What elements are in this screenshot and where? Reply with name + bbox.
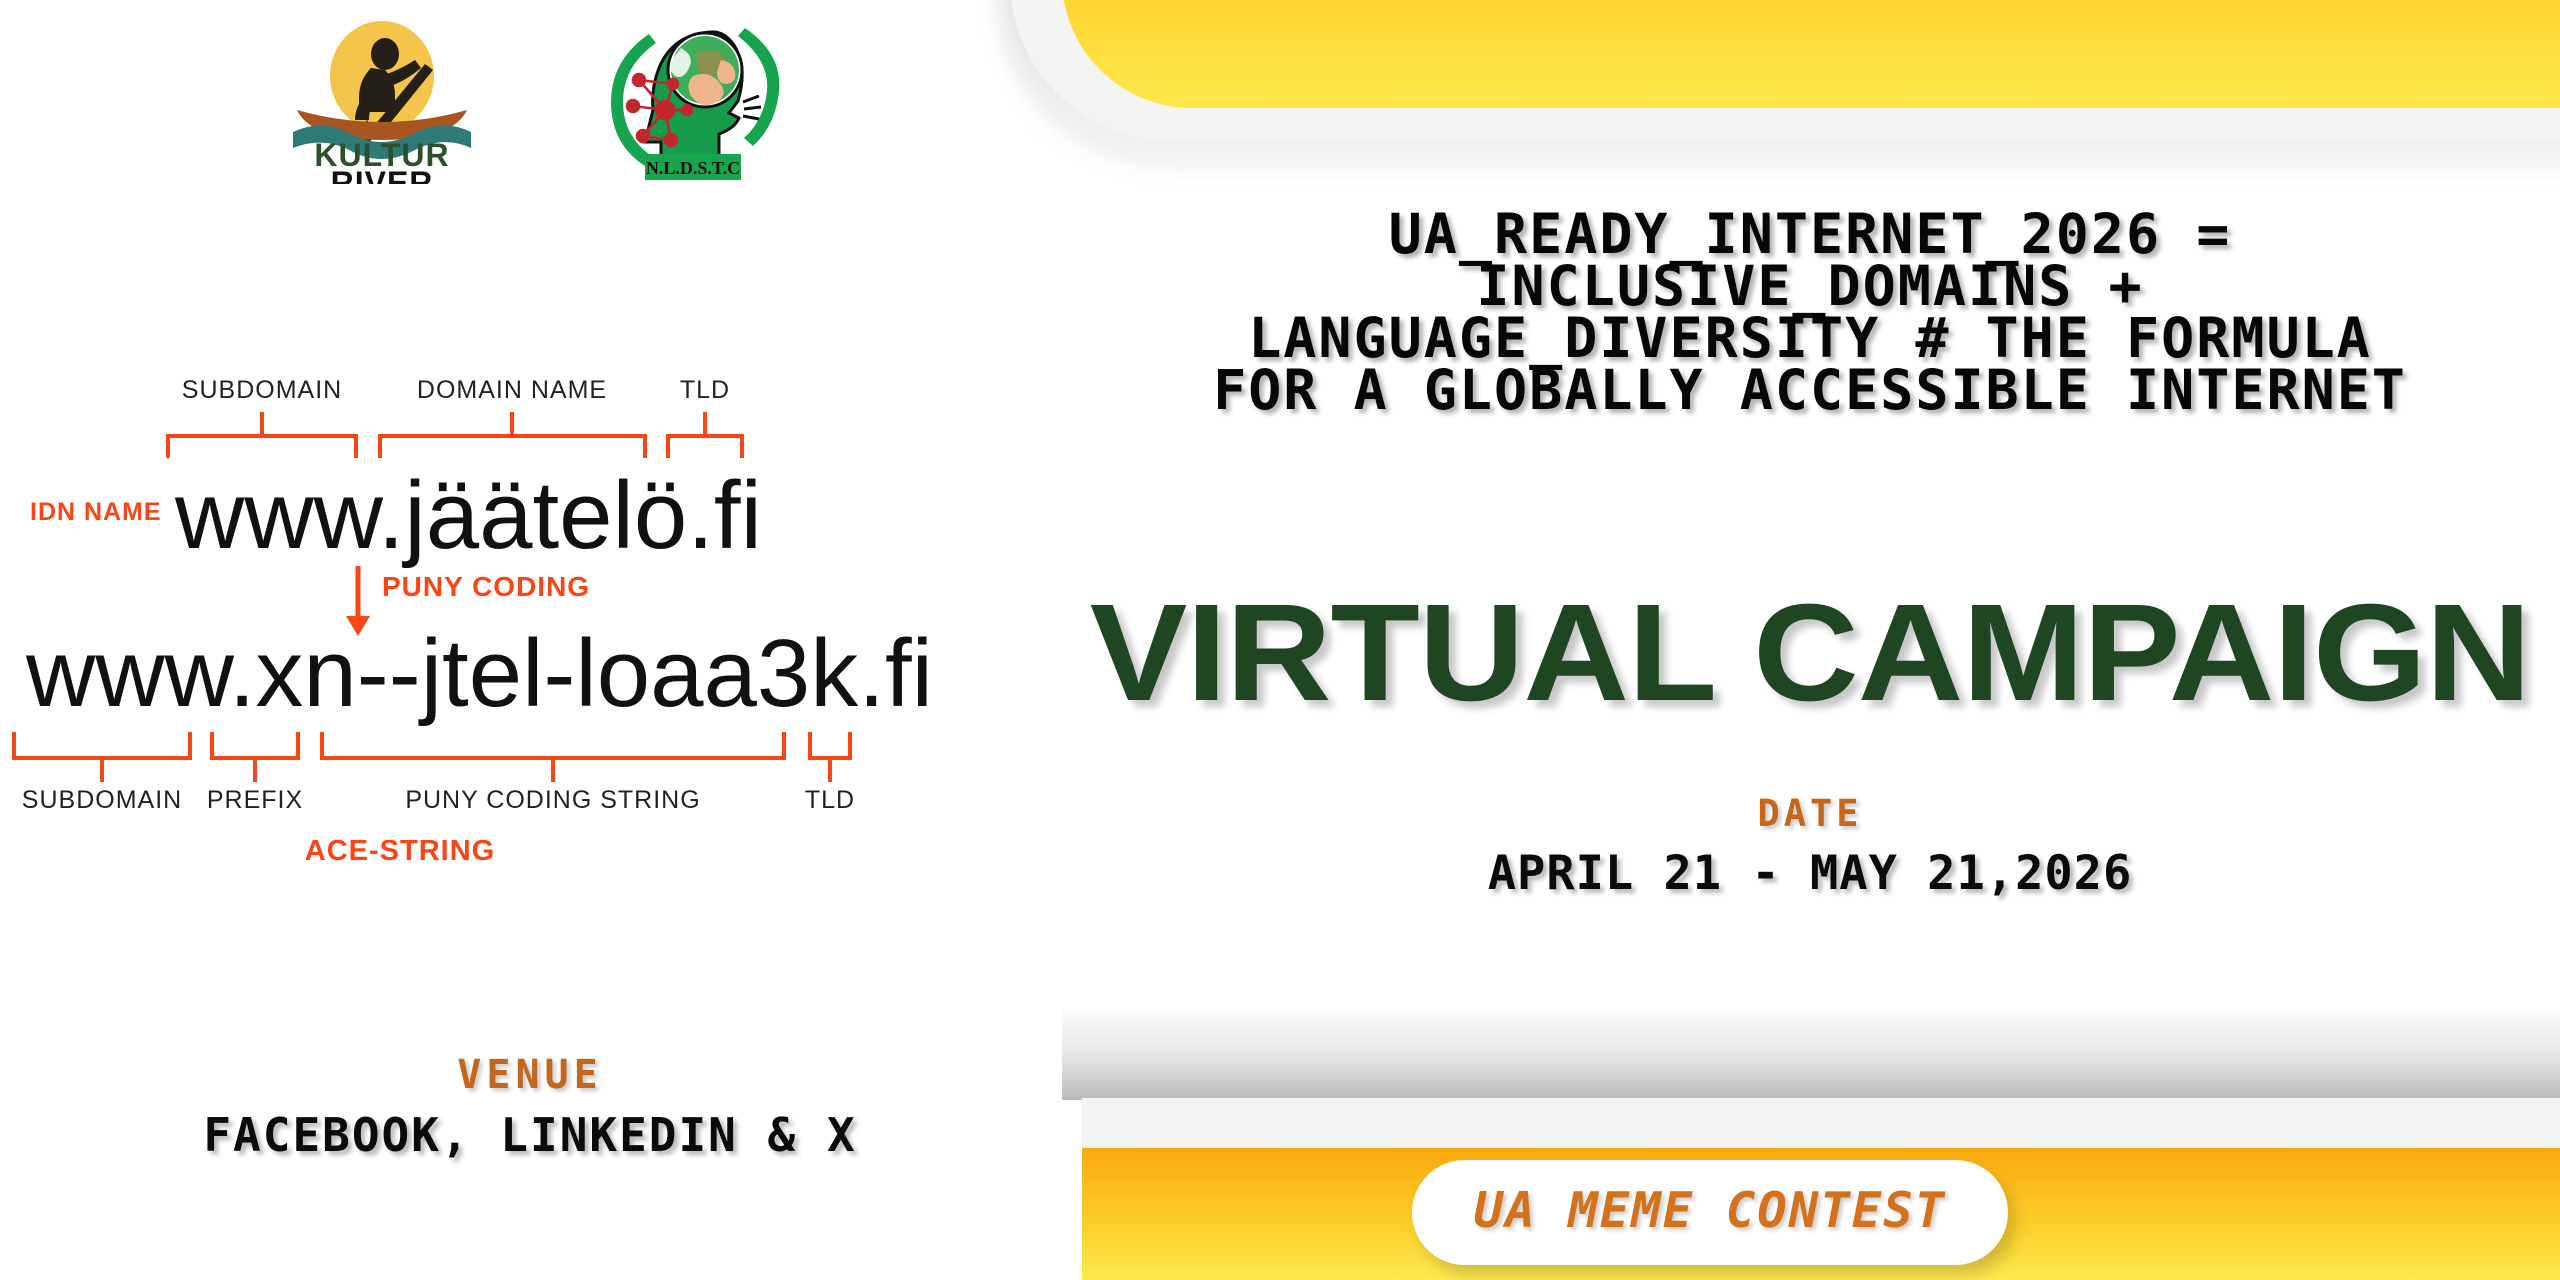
campaign-title: VIRTUAL CAMPAIGN	[983, 588, 2560, 718]
ace-domain-text: www.xn--jtel-loaa3k.fi	[25, 620, 933, 727]
ua-meme-contest-button[interactable]: UA MEME CONTEST	[1412, 1160, 2009, 1265]
label-subdomain-bottom: SUBDOMAIN	[22, 786, 182, 814]
label-subdomain-top: SUBDOMAIN	[182, 376, 342, 404]
right-panel: UA_READY_INTERNET_2026 = INCLUSIVE_DOMAI…	[1060, 0, 2560, 1280]
nldstc-logo: N.L.D.S.T.C	[593, 14, 793, 194]
contest-pill-wrap: UA MEME CONTEST	[940, 1160, 2480, 1265]
label-puny-coding: PUNY CODING	[382, 571, 590, 602]
headline-line-4: FOR A GLOBALLY ACCESSIBLE INTERNET	[1040, 364, 2560, 416]
date-value: APRIL 21 - MAY 21,2026	[1040, 846, 2560, 901]
label-prefix: PREFIX	[207, 786, 303, 814]
headline-formula: UA_READY_INTERNET_2026 = INCLUSIVE_DOMAI…	[1040, 208, 2560, 416]
label-tld-bottom: TLD	[805, 786, 855, 814]
label-puny-coding-string: PUNY CODING STRING	[405, 786, 700, 814]
venue-value: FACEBOOK, LINKEDIN & X	[0, 1108, 1060, 1162]
label-domain-name: DOMAIN NAME	[417, 376, 607, 404]
venue-block: VENUE FACEBOOK, LINKEDIN & X	[0, 1052, 1060, 1162]
headline-line-3: LANGUAGE_DIVERSITY # THE FORMULA	[1040, 312, 2560, 364]
kultur-wordmark-line2: RIVER	[331, 165, 434, 184]
headline-line-2: INCLUSIVE_DOMAINS +	[1040, 260, 2560, 312]
kultur-river-logo: KULTUR RIVER	[267, 14, 497, 184]
idn-punycode-diagram: SUBDOMAIN DOMAIN NAME TLD	[0, 368, 1000, 928]
headline-line-1: UA_READY_INTERNET_2026 =	[1040, 208, 2560, 260]
poster-canvas: KULTUR RIVER	[0, 0, 2560, 1280]
label-idn-name: IDN NAME	[30, 498, 162, 526]
label-tld-top: TLD	[680, 376, 730, 404]
ua-meme-contest-label: UA MEME CONTEST	[1474, 1182, 1947, 1239]
idn-domain-text: www.jäätelö.fi	[174, 462, 762, 569]
venue-label: VENUE	[0, 1052, 1060, 1098]
date-label: DATE	[1040, 792, 2560, 835]
label-ace-string: ACE-STRING	[305, 835, 495, 867]
left-panel: KULTUR RIVER	[0, 0, 1060, 1280]
logo-row: KULTUR RIVER	[0, 14, 1060, 194]
nldstc-badge-label: N.L.D.S.T.C	[646, 158, 740, 178]
